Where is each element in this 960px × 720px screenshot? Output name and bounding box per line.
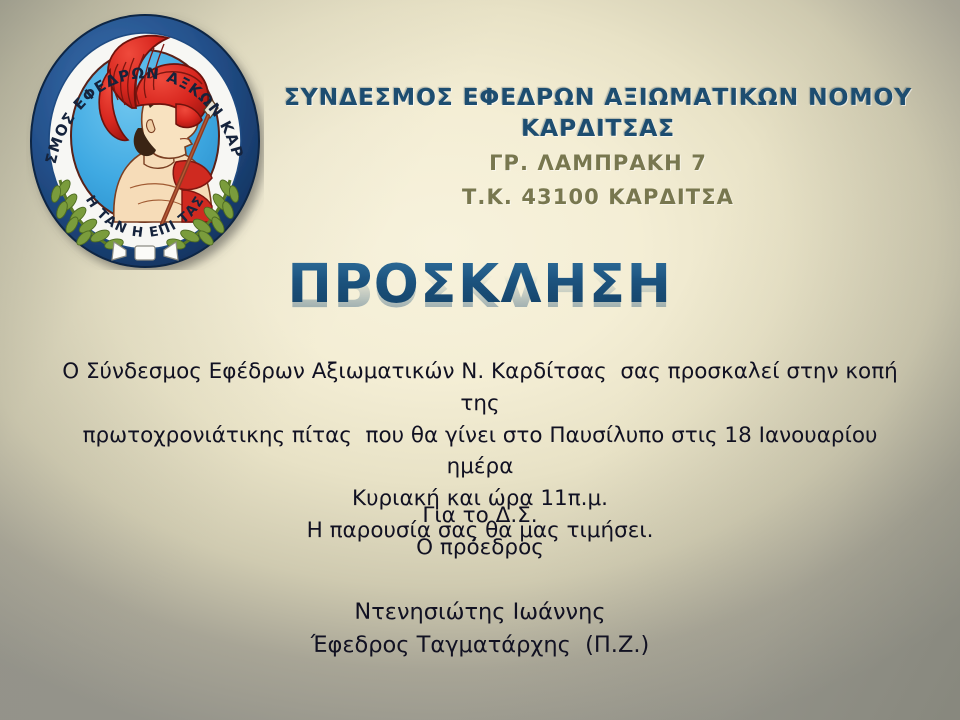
invitation-title-block: ΠΡΟΣΚΛΗΣΗ ΠΡΟΣΚΛΗΣΗ (0, 258, 960, 352)
signature-spacer (52, 564, 908, 596)
org-address-line-2: Τ.Κ. 43100 ΚΑΡΔΙΤΣΑ (282, 184, 914, 212)
signature-name: Ντενησιώτης Ιωάννης (52, 596, 908, 630)
invitation-slide: ΣΥΝΔΕΣΜΟΣ ΕΦΕΔΡΩΝ ΑΞΚΩΝ ΚΑΡΔΙΤΣΑΣ Η ΤΑΝ … (0, 0, 960, 720)
signature-rank: Έφεδρος Ταγματάρχης (Π.Ζ.) (52, 629, 908, 663)
signature-role: Ο πρόεδρος (52, 532, 908, 564)
organization-header: ΣΥΝΔΕΣΜΟΣ ΕΦΕΔΡΩΝ ΑΞΙΩΜΑΤΙΚΩΝ ΝΟΜΟΥ ΚΑΡΔ… (282, 82, 914, 212)
body-line-1: Ο Σύνδεσμος Εφέδρων Αξιωματικών Ν. Καρδί… (52, 356, 908, 420)
association-emblem: ΣΥΝΔΕΣΜΟΣ ΕΦΕΔΡΩΝ ΑΞΚΩΝ ΚΑΡΔΙΤΣΑΣ Η ΤΑΝ … (26, 12, 264, 270)
org-name-line-1: ΣΥΝΔΕΣΜΟΣ ΕΦΕΔΡΩΝ ΑΞΙΩΜΑΤΙΚΩΝ ΝΟΜΟΥ (282, 82, 914, 113)
signature-for-board: Για το Δ.Σ. (52, 500, 908, 532)
org-name-line-2: ΚΑΡΔΙΤΣΑΣ (282, 113, 914, 144)
org-address-line-1: ΓΡ. ΛΑΜΠΡΑΚΗ 7 (282, 150, 914, 178)
body-line-2: πρωτοχρονιάτικης πίτας που θα γίνει στο … (52, 420, 908, 484)
signature-block: Για το Δ.Σ. Ο πρόεδρος Ντενησιώτης Ιωάνν… (52, 500, 908, 663)
